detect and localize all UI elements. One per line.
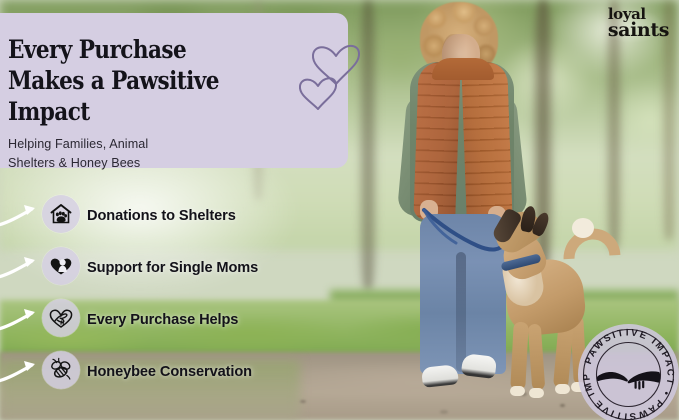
stamp-text: PAWSITIVE IMPACT • PAWSITIVE IMPACT •: [578, 324, 676, 420]
heart-doodle-group: [298, 18, 368, 113]
dog-paw: [529, 388, 544, 398]
arrow-right-icon: [0, 302, 42, 336]
subtitle-line-2: Shelters & Honey Bees: [8, 154, 238, 173]
heart-outline-icon: [300, 78, 336, 109]
honeybee-icon: [42, 351, 80, 389]
dog-tail-tip: [572, 218, 594, 238]
feature-list: Donations to Shelters Support for Single…: [0, 190, 300, 398]
page-subtitle: Helping Families, Animal Shelters & Hone…: [8, 135, 238, 172]
arrow-right-icon: [0, 198, 42, 232]
headline-line-2: Makes a Pawsitive: [8, 66, 309, 97]
headline-line-3: Impact: [8, 97, 309, 128]
list-item-label: Donations to Shelters: [87, 208, 236, 224]
dog-leg: [510, 322, 529, 391]
heart-hand-paw-icon: [42, 299, 80, 337]
house-paw-icon: [42, 195, 80, 233]
dog-paw: [510, 386, 525, 396]
arrow-right-icon: [0, 354, 42, 388]
list-item-label: Support for Single Moms: [87, 260, 258, 276]
pawsitive-impact-stamp: PAWSITIVE IMPACT • PAWSITIVE IMPACT •: [578, 324, 679, 420]
brand-logo-line-2: saints: [608, 22, 669, 39]
dog-paw: [555, 384, 570, 394]
heart-mother-child-icon: [42, 247, 80, 285]
dog-muzzle: [490, 207, 523, 245]
promo-banner: Every Purchase Makes a Pawsitive Impact …: [0, 0, 679, 420]
list-item[interactable]: Support for Single Moms: [0, 242, 300, 294]
list-item[interactable]: Donations to Shelters: [0, 190, 300, 242]
list-item[interactable]: Honeybee Conservation: [0, 346, 300, 398]
page-title: Every Purchase Makes a Pawsitive Impact: [8, 35, 309, 128]
headline-card: Every Purchase Makes a Pawsitive Impact …: [0, 13, 348, 168]
brand-logo[interactable]: loyal saints: [608, 8, 669, 39]
hand-and-paw-icon: [597, 371, 660, 389]
arrow-right-icon: [0, 250, 42, 284]
headline-line-1: Every Purchase: [8, 35, 309, 66]
list-item-label: Every Purchase Helps: [87, 312, 238, 328]
list-item-label: Honeybee Conservation: [87, 364, 252, 380]
status-badge: PAWSITIVE IMPACT • PAWSITIVE IMPACT •: [578, 324, 679, 420]
heart-outline-icon: [313, 46, 359, 84]
list-item[interactable]: Every Purchase Helps: [0, 294, 300, 346]
subtitle-line-1: Helping Families, Animal: [8, 135, 238, 154]
